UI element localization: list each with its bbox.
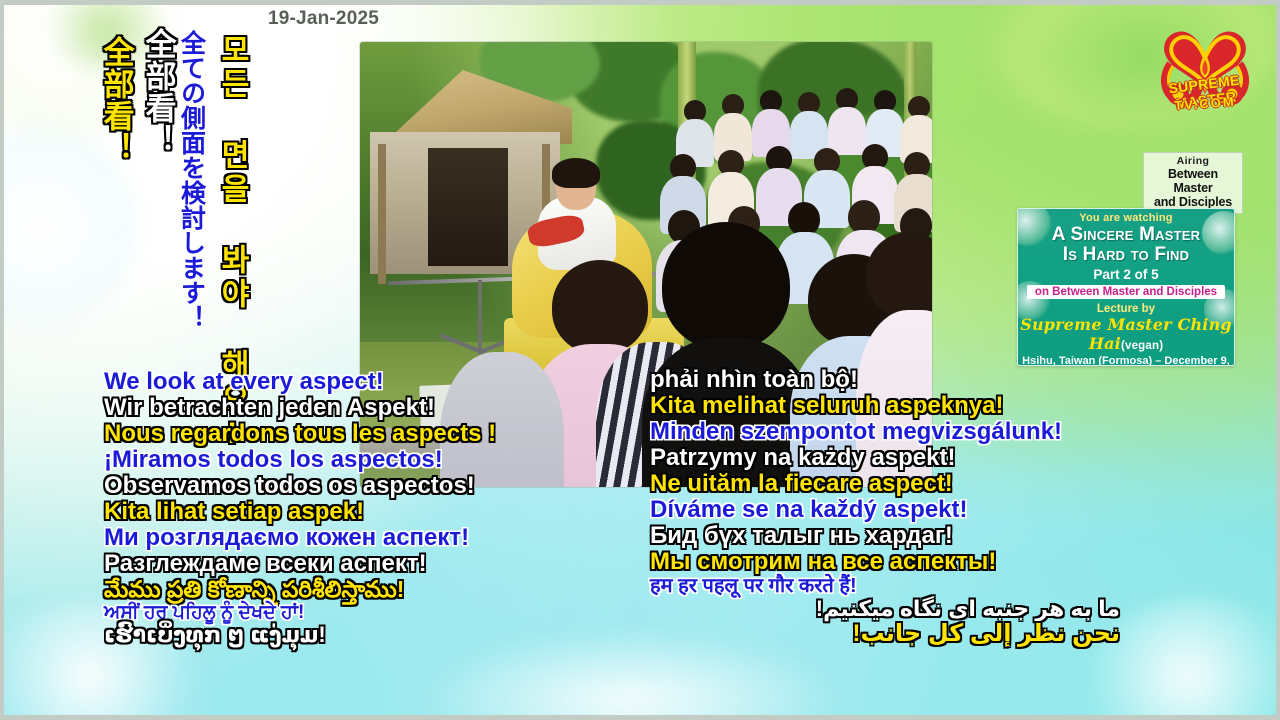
lecture-by-label: Lecture by [1018, 303, 1234, 315]
program-info-panel: You are watching A Sincere Master Is Har… [1017, 208, 1235, 366]
hut-doorway [428, 148, 508, 266]
broadcast-screen: 19-Jan-2025 [0, 0, 1280, 720]
hut-post [378, 144, 386, 284]
subtitle-line-hindi: हम हर पहलू पर गौर करते हैं! [650, 576, 1120, 596]
letterbox-bottom [0, 715, 1280, 720]
airing-box: Airing Between Master and Disciples [1143, 152, 1243, 214]
speaker-name: Supreme Master Ching Hai(vegan) [1018, 315, 1234, 353]
subtitle-line-arabic: نحن نظر إلى كل جانب! [650, 622, 1120, 646]
subtitle-line-romanian: Ne uităm la fiecare aspect! [650, 472, 1120, 496]
audience-member [900, 96, 932, 160]
subtitle-line-hungarian: Minden szempontot megvizsgálunk! [650, 420, 1120, 444]
subtitle-line-ukrainian: Ми розглядаємо кожен аспект! [104, 526, 664, 550]
supreme-master-tv-logo[interactable]: SUPREME MASTER TV.COM [1140, 18, 1270, 130]
you-are-watching-label: You are watching [1018, 212, 1234, 224]
subtitle-line-polish: Patrzymy na każdy aspekt! [650, 446, 1120, 470]
speaker-hair [552, 158, 600, 188]
subtitle-line-english: We look at every aspect! [104, 370, 664, 394]
audience-member [828, 88, 864, 152]
vertical-caption-chinese-traditional: 全部看！ [100, 36, 132, 164]
subtitle-line-french: Nous regardons tous les aspects ! [104, 422, 664, 446]
speaker-vegan-tag: (vegan) [1121, 340, 1163, 352]
subtitle-line-czech: Díváme se na každý aspekt! [650, 498, 1120, 522]
airing-program-line2: and Disciples [1147, 195, 1239, 209]
vertical-caption-japanese: 全ての側面を検討します！ [178, 30, 204, 330]
audience-member [714, 94, 750, 158]
audience-member [752, 90, 788, 154]
subtitle-line-german: Wir betrachten jeden Aspekt! [104, 396, 664, 420]
subtitle-line-portuguese: Observamos todos os aspectos! [104, 474, 664, 498]
broadcast-date: 19-Jan-2025 [268, 8, 379, 30]
subtitle-line-bulgarian: Разглеждаме всеки аспект! [104, 552, 664, 576]
subtitle-line-indonesian: Kita melihat seluruh aspeknya! [650, 394, 1120, 418]
lecture-place-date: Hsihu, Taiwan (Formosa) – December 9, 19… [1018, 355, 1234, 366]
airing-program-line1: Between Master [1147, 167, 1239, 195]
subtitle-column-left: We look at every aspect!Wir betrachten j… [104, 370, 664, 648]
subtitle-column-right: phải nhìn toàn bộ!Kita melihat seluruh a… [650, 368, 1120, 648]
program-title-line1: A Sincere Master [1018, 225, 1234, 244]
program-part: Part 2 of 5 [1018, 267, 1234, 282]
program-title-line2: Is Hard to Find [1018, 245, 1234, 264]
letterbox-left [0, 0, 4, 720]
subtitle-line-mongolian: Бид бүх талыг нь хардаг! [650, 524, 1120, 548]
program-series: on Between Master and Disciples [1027, 285, 1225, 299]
letterbox-right [1276, 0, 1280, 720]
subtitle-line-malay: Kita lihat setiap aspek! [104, 500, 664, 524]
subtitle-line-persian: ما به هر جنبه ای نگاه میکنیم! [650, 598, 1120, 620]
subtitle-line-russian: Мы смотрим на все аспекты! [650, 550, 1120, 574]
subtitle-line-lao: ເຮົາເບິ່ງທຸກ ໆ ແງ່ມຸມ! [104, 624, 664, 646]
subtitle-line-spanish: ¡Miramos todos los aspectos! [104, 448, 664, 472]
subtitle-line-telugu: మేము ప్రతి కోణాన్ని పరిశీలిస్తాము! [104, 578, 664, 601]
letterbox-top [0, 0, 1280, 5]
airing-label: Airing [1147, 155, 1239, 167]
subtitle-line-punjabi: ਅਸੀਂ ਹਰ ਪਹਿਲੂ ਨੂੰ ਦੇਖਦੇ ਹਾਂ! [104, 603, 664, 622]
subtitle-line-vietnamese: phải nhìn toàn bộ! [650, 368, 1120, 392]
vertical-caption-chinese-simplified: 全部看！ [142, 28, 174, 156]
